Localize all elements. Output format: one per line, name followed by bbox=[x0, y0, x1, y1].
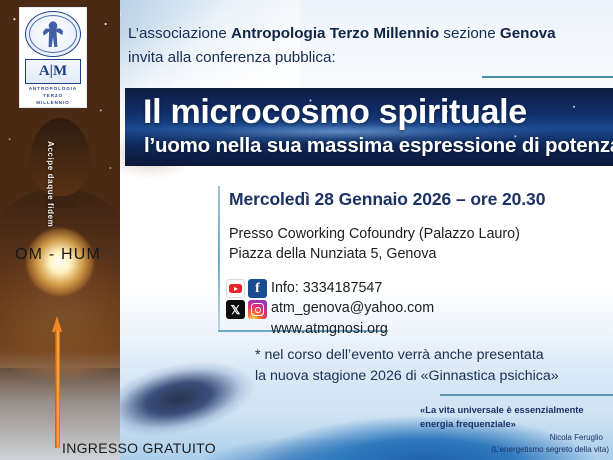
venue-line-2: Piazza della Nunziata 5, Genova bbox=[229, 244, 520, 264]
event-venue: Presso Coworking Cofoundry (Palazzo Laur… bbox=[229, 224, 520, 265]
instagram-camera-glyph bbox=[251, 303, 264, 316]
quote-author: Nicola Feruglio bbox=[420, 432, 613, 444]
venue-line-1: Presso Coworking Cofoundry (Palazzo Laur… bbox=[229, 224, 520, 244]
logo-wordmark-line-1: ANTROPOLOGIA bbox=[29, 86, 77, 93]
note-line-2: la nuova stagione 2026 di «Ginnastica ps… bbox=[255, 366, 559, 387]
contact-phone: Info: 3334187547 bbox=[271, 278, 434, 298]
human-silhouette-head bbox=[30, 118, 90, 196]
logo-monogram: A|M bbox=[25, 59, 81, 84]
contact-email[interactable]: atm_genova@yahoo.com bbox=[271, 298, 434, 318]
page-title: Il microcosmo spirituale bbox=[143, 91, 527, 134]
youtube-play-glyph bbox=[229, 284, 242, 293]
top-divider bbox=[482, 76, 613, 78]
upward-arrow-icon bbox=[52, 316, 62, 448]
social-icons[interactable]: f 𝕏 bbox=[226, 279, 268, 319]
invitation-text: L’associazione Antropologia Terzo Millen… bbox=[128, 22, 598, 69]
event-note: * nel corso dell’evento verrà anche pres… bbox=[255, 345, 559, 388]
mantra-label: OM - HUM bbox=[15, 246, 101, 264]
instagram-icon[interactable] bbox=[248, 300, 267, 319]
title-banner: Il microcosmo spirituale l’uomo nella su… bbox=[125, 88, 613, 166]
quote-divider bbox=[440, 394, 613, 396]
free-entry-label: INGRESSO GRATUITO bbox=[62, 440, 216, 456]
conference-poster: Accipe daque fidem OM - HUM INGRESSO GRA… bbox=[0, 0, 613, 460]
association-logo: A|M ANTROPOLOGIA TERZO MILLENNIO bbox=[19, 7, 87, 108]
logo-wordmark: ANTROPOLOGIA TERZO MILLENNIO bbox=[29, 86, 77, 107]
logo-wordmark-line-2: TERZO bbox=[29, 93, 77, 100]
logo-seal-icon bbox=[25, 11, 81, 57]
youtube-icon[interactable] bbox=[226, 279, 245, 298]
invite-line-2: invita alla conferenza pubblica: bbox=[128, 49, 336, 66]
invite-prefix: L’associazione bbox=[128, 25, 231, 42]
quote-text-line-2: energia frequenziale» bbox=[420, 417, 613, 431]
vertical-motto-text: Accipe daque fidem bbox=[46, 141, 55, 227]
quote-text-line-1: «La vita universale è essenzialmente bbox=[420, 403, 613, 417]
invite-org-name: Antropologia Terzo Millennio bbox=[231, 25, 439, 42]
invite-section: Genova bbox=[500, 25, 556, 42]
logo-wordmark-line-3: MILLENNIO bbox=[29, 100, 77, 107]
facebook-icon[interactable]: f bbox=[248, 279, 267, 298]
arrow-shaft bbox=[55, 330, 60, 448]
page-subtitle: l’uomo nella sua massima espressione di … bbox=[144, 134, 613, 159]
event-datetime: Mercoledì 28 Gennaio 2026 – ore 20.30 bbox=[229, 189, 545, 210]
quote-source: (L’energetismo segreto della vita) bbox=[420, 444, 613, 455]
quote-block: «La vita universale è essenzialmente ene… bbox=[420, 403, 613, 455]
quote-text: «La vita universale è essenzialmente ene… bbox=[420, 403, 613, 430]
details-vertical-divider bbox=[218, 186, 220, 332]
note-line-1: * nel corso dell’evento verrà anche pres… bbox=[255, 345, 559, 366]
vitruvian-figure-icon bbox=[42, 21, 64, 47]
invite-mid: sezione bbox=[439, 25, 500, 42]
contact-info: Info: 3334187547 atm_genova@yahoo.com ww… bbox=[271, 278, 434, 339]
x-twitter-icon[interactable]: 𝕏 bbox=[226, 300, 245, 319]
contact-website[interactable]: www.atmgnosi.org bbox=[271, 319, 434, 339]
